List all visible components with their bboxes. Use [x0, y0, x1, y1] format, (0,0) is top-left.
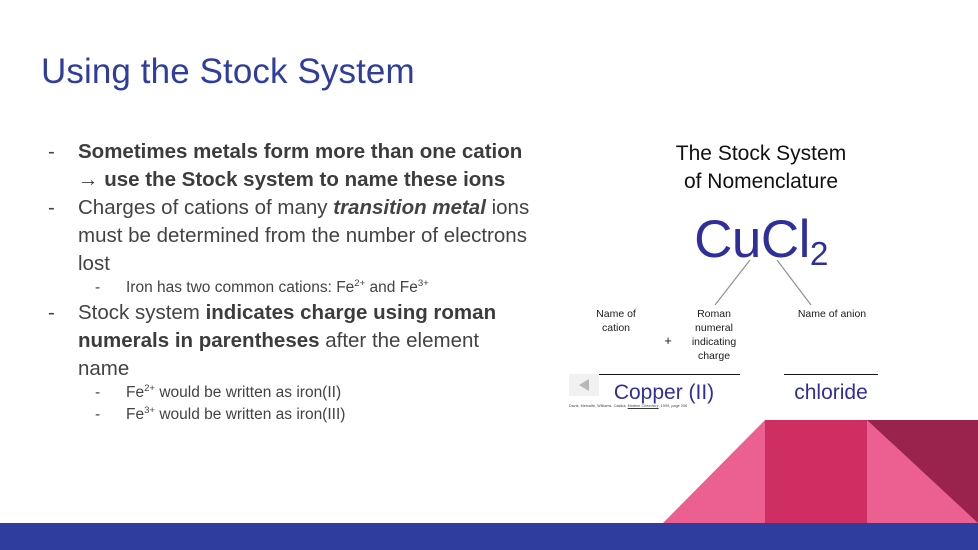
list-item: - Fe2+ would be written as iron(II) [95, 382, 538, 403]
bullet-text: Charges of cations of many transition me… [78, 194, 538, 278]
formula-subscript: 2 [810, 236, 828, 273]
bullet-marker: - [95, 404, 126, 425]
label-name-of-anion: Name of anion [777, 308, 887, 322]
footer-bar [0, 523, 978, 550]
bullet-marker: - [48, 299, 78, 327]
bullet-text: Fe3+ would be written as iron(III) [126, 404, 538, 425]
label-roman-numeral: Roman numeral indicating charge [675, 308, 753, 364]
list-item: - Stock system indicates charge using ro… [48, 299, 538, 383]
figure-title: The Stock System of Nomenclature [565, 140, 957, 195]
list-item: - Charges of cations of many transition … [48, 194, 538, 278]
page-title: Using the Stock System [41, 52, 415, 92]
formula-main: CuCl [694, 210, 810, 269]
figure-title-line2: of Nomenclature [565, 168, 957, 196]
figure-citation: Davis, Metcalfe, Williams, Castka, Moder… [569, 404, 687, 408]
list-item: - Iron has two common cations: Fe2+ and … [95, 277, 538, 298]
answer-cation-name: Copper (II) [588, 380, 740, 405]
bullet-text: Iron has two common cations: Fe2+ and Fe… [126, 277, 538, 298]
bullet-marker: - [95, 382, 126, 403]
answer-anion-name: chloride [776, 380, 886, 405]
figure-title-line1: The Stock System [565, 140, 957, 168]
bullet-text: Sometimes metals form more than one cati… [78, 138, 538, 194]
bullet-marker: - [48, 194, 78, 222]
list-item: - Fe3+ would be written as iron(III) [95, 404, 538, 425]
label-name-of-cation: Name of cation [577, 308, 655, 336]
bullet-text: Fe2+ would be written as iron(II) [126, 382, 538, 403]
divider-left [588, 374, 740, 375]
previous-button[interactable] [569, 374, 599, 396]
stock-system-figure: The Stock System of Nomenclature CuCl2 N… [565, 138, 957, 420]
divider-right [784, 374, 878, 375]
left-triangle-icon [579, 379, 589, 391]
bullet-marker: - [48, 138, 78, 166]
chemical-formula: CuCl2 [565, 213, 957, 266]
bullet-marker: - [95, 277, 126, 298]
bullet-list: - Sometimes metals form more than one ca… [48, 138, 538, 425]
list-item: - Sometimes metals form more than one ca… [48, 138, 538, 194]
plus-sign: + [661, 332, 675, 349]
bullet-text: Stock system indicates charge using roma… [78, 299, 538, 383]
